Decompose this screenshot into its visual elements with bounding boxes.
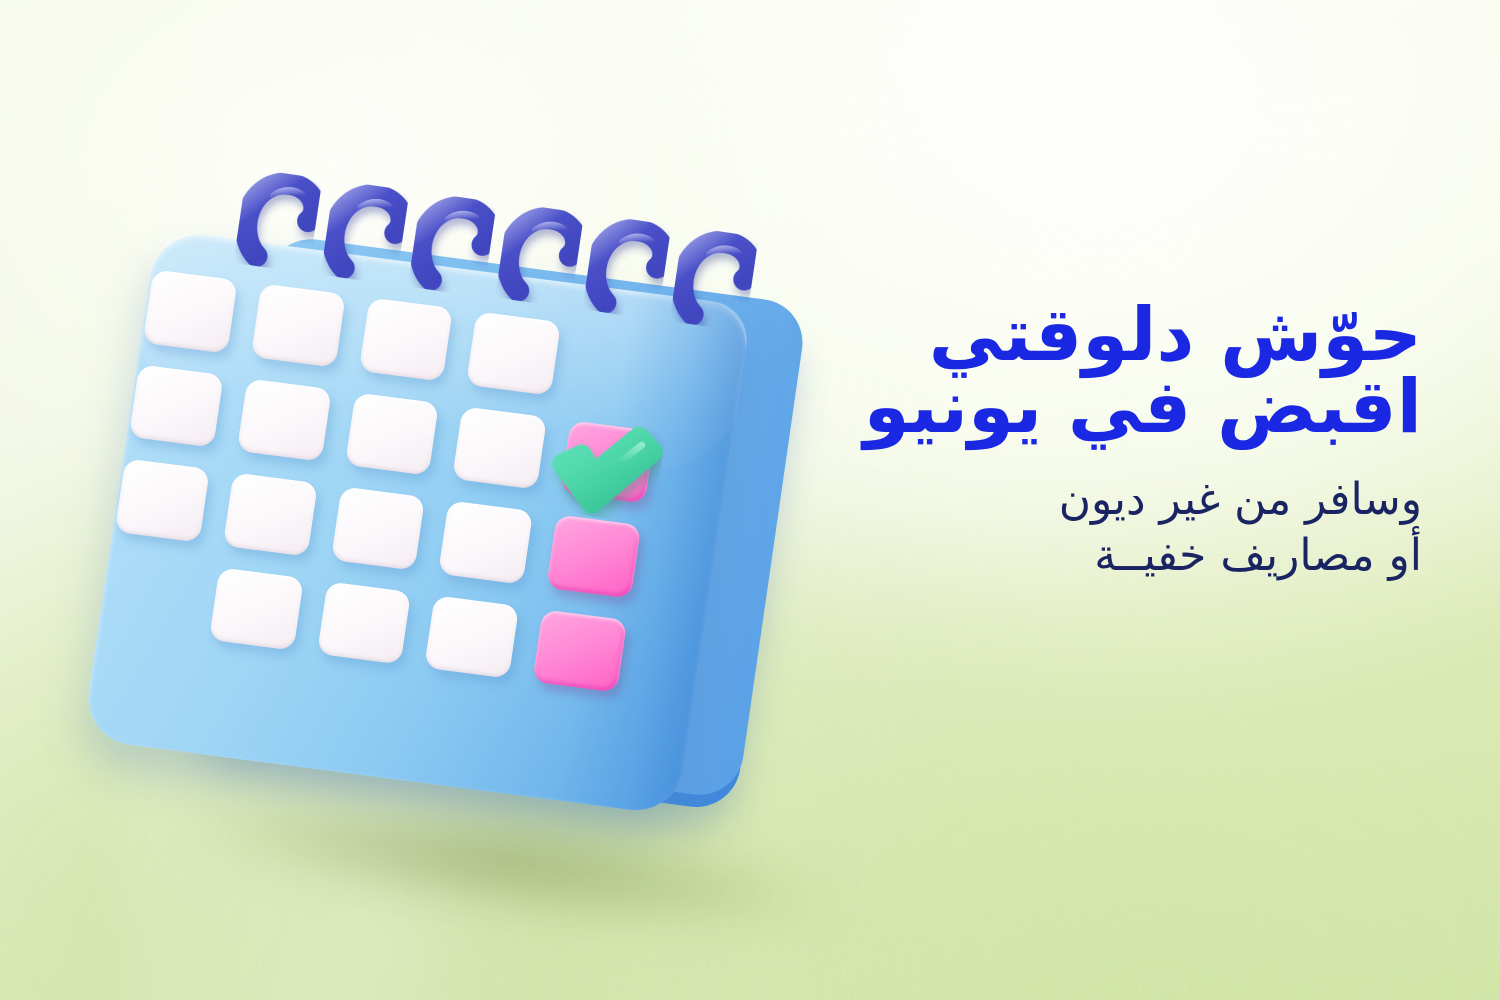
subtitle-line-2: أو مصاريف خفيــة (862, 528, 1422, 584)
calendar-cell-highlighted[interactable] (532, 609, 627, 693)
headline-line-1: حوّش دلوقتي (862, 300, 1422, 372)
subtitle-line-1: وسافر من غير ديون (862, 472, 1422, 528)
calendar-cell-day[interactable] (317, 581, 412, 665)
calendar-cell-day[interactable] (452, 406, 547, 490)
calendar-cell-day[interactable] (209, 567, 304, 651)
page-subtitle: وسافر من غير ديون أو مصاريف خفيــة (862, 472, 1422, 585)
calendar-ring (408, 191, 497, 297)
marketing-copy: حوّش دلوقتي اقبض في يونيو وسافر من غير د… (862, 300, 1422, 584)
page-title: حوّش دلوقتي اقبض في يونيو (862, 300, 1422, 444)
calendar-illustration (95, 205, 775, 825)
calendar-cell-highlighted[interactable] (546, 514, 641, 598)
calendar-ring (233, 168, 322, 274)
promo-banner: حوّش دلوقتي اقبض في يونيو وسافر من غير د… (0, 0, 1500, 1000)
calendar-cell-highlighted[interactable] (560, 420, 655, 504)
headline-line-2: اقبض في يونيو (862, 372, 1422, 444)
calendar-ring (320, 179, 409, 285)
calendar-ring (582, 214, 671, 320)
calendar-cell-day[interactable] (143, 269, 238, 353)
calendar-cell-day[interactable] (115, 458, 210, 542)
calendar-ring (495, 203, 584, 309)
calendar-cell-day[interactable] (425, 595, 520, 679)
calendar-cell-empty (101, 553, 196, 637)
calendar-cell-day[interactable] (129, 364, 224, 448)
calendar-cell-day[interactable] (237, 378, 332, 462)
calendar-cell-day[interactable] (439, 500, 534, 584)
calendar-cell-day[interactable] (345, 392, 440, 476)
calendar-cell-day[interactable] (223, 472, 318, 556)
calendar-ring (669, 226, 758, 332)
calendar-cell-day[interactable] (331, 486, 426, 570)
